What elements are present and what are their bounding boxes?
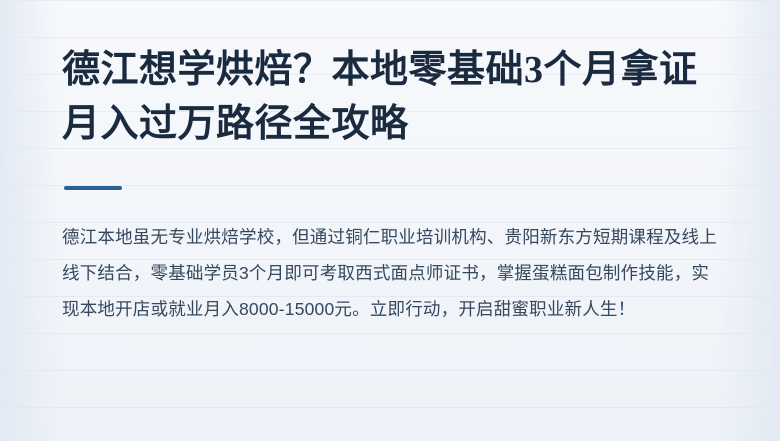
article-content: 德江想学烘焙？本地零基础3个月拿证月入过万路径全攻略 德江本地虽无专业烘焙学校，… xyxy=(0,0,780,328)
article-summary: 德江本地虽无专业烘焙学校，但通过铜仁职业培训机构、贵阳新东方短期课程及线上线下结… xyxy=(62,220,717,328)
page-title: 德江想学烘焙？本地零基础3个月拿证月入过万路径全攻略 xyxy=(62,44,718,152)
article-card: 德江想学烘焙？本地零基础3个月拿证月入过万路径全攻略 德江本地虽无专业烘焙学校，… xyxy=(0,0,780,441)
title-divider xyxy=(64,186,122,190)
